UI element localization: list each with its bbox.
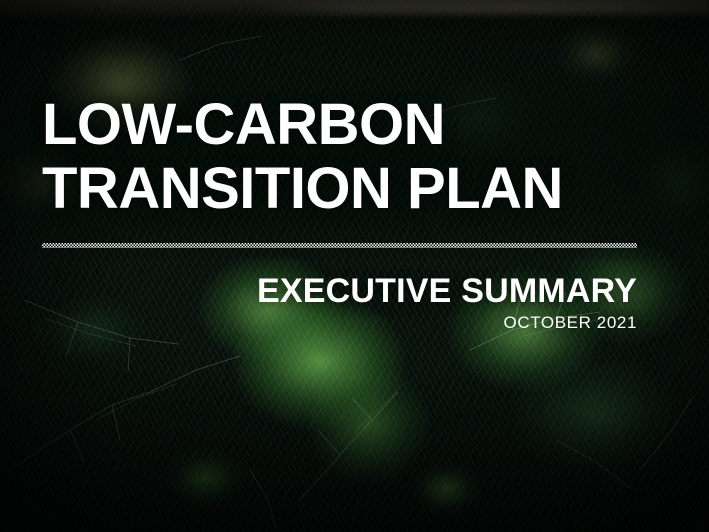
- cover-subtitle-block: EXECUTIVE SUMMARY OCTOBER 2021: [257, 272, 637, 334]
- halftone-divider-rule: [42, 243, 637, 248]
- cover-title: LOW-CARBON TRANSITION PLAN: [42, 93, 563, 221]
- cover-title-line-1: LOW-CARBON: [42, 93, 563, 157]
- cover-subtitle: EXECUTIVE SUMMARY: [257, 272, 637, 310]
- forest-canopy-background-image: [0, 0, 709, 532]
- cover-title-line-2: TRANSITION PLAN: [42, 157, 563, 221]
- report-cover-page: LOW-CARBON TRANSITION PLAN EXECUTIVE SUM…: [0, 0, 709, 532]
- cover-date: OCTOBER 2021: [257, 312, 637, 334]
